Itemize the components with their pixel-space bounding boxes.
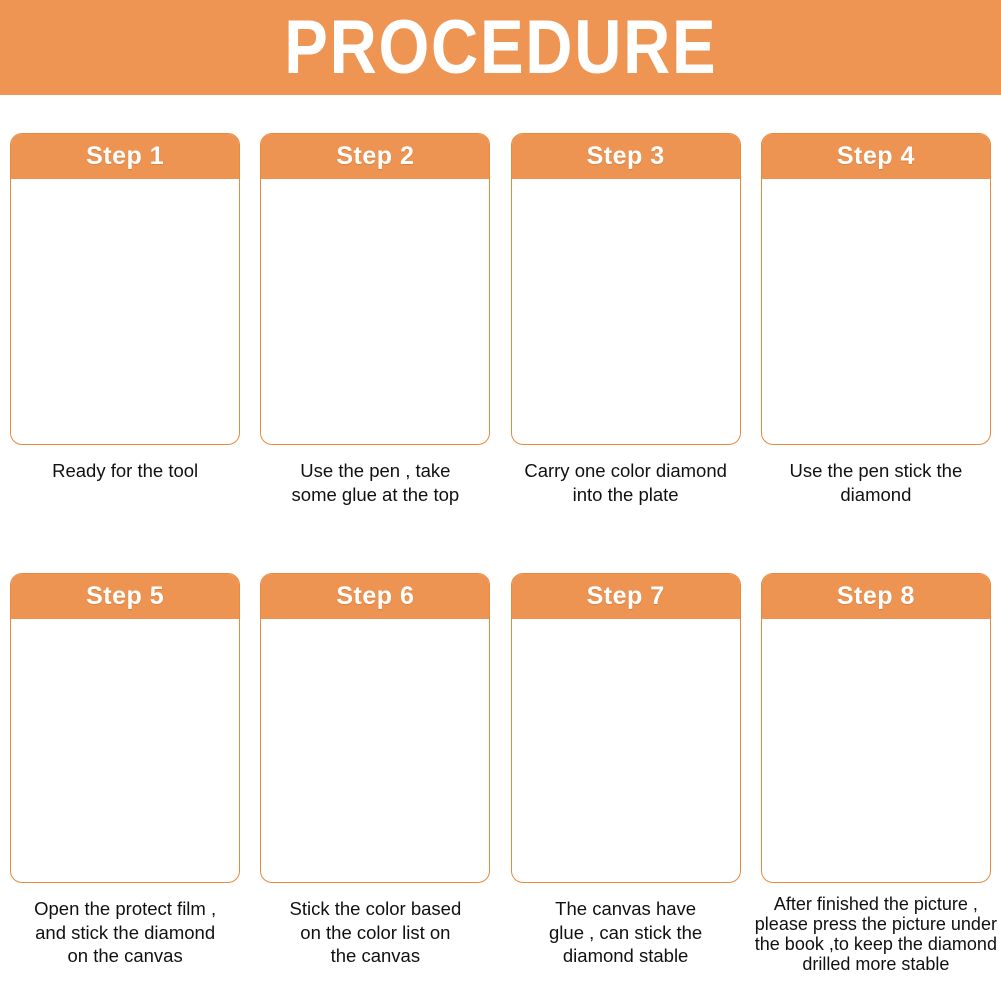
step-header-3: Step 3 [512, 134, 740, 179]
step-cell-2: Step 2 [250, 133, 500, 545]
step-cell-4: Step 4 [751, 133, 1001, 545]
step-card-5[interactable]: Step 5 [10, 573, 240, 883]
steps-grid: Step 1 [0, 95, 1001, 1001]
step-caption-4: Use the pen stick the diamond [758, 459, 993, 506]
page-banner: PROCEDURE [0, 0, 1001, 95]
step-cell-7: Step 7 The canvas h [501, 573, 751, 993]
step-card-3[interactable]: Step 3 [511, 133, 741, 445]
step-caption-8: After finished the picture , please pres… [753, 894, 999, 975]
step-cell-1: Step 1 [0, 133, 250, 545]
step-body-2 [261, 179, 489, 187]
step-header-label: Step 3 [587, 142, 665, 171]
procedure-infographic: PROCEDURE Step 1 [0, 0, 1001, 1001]
step-header-4: Step 4 [762, 134, 990, 179]
step-cell-5: Step 5 Open the pro [0, 573, 250, 993]
step-cell-6: Step 6 Ser [250, 573, 500, 993]
step-cell-8: Step 8 [751, 573, 1001, 993]
step-caption-1: Ready for the tool [8, 459, 243, 483]
step-header-label: Step 5 [86, 582, 164, 611]
step-caption-7: The canvas have glue , can stick the dia… [508, 897, 743, 968]
step-header-label: Step 2 [336, 142, 414, 171]
step-card-2[interactable]: Step 2 [260, 133, 490, 445]
step-header-label: Step 8 [837, 582, 915, 611]
step-caption-2: Use the pen , take some glue at the top [258, 459, 493, 506]
step-header-7: Step 7 [512, 574, 740, 619]
steps-row-bottom: Step 5 Open the pro [0, 573, 1001, 993]
step-card-4[interactable]: Step 4 [761, 133, 991, 445]
step-caption-5: Open the protect film , and stick the di… [8, 897, 243, 968]
step-card-8[interactable]: Step 8 [761, 573, 991, 883]
step-card-6[interactable]: Step 6 Ser [260, 573, 490, 883]
step-header-1: Step 1 [11, 134, 239, 179]
step-header-5: Step 5 [11, 574, 239, 619]
step-header-label: Step 7 [587, 582, 665, 611]
step-header-2: Step 2 [261, 134, 489, 179]
page-title: PROCEDURE [284, 10, 717, 86]
step-card-7[interactable]: Step 7 [511, 573, 741, 883]
step-cell-3: Step 3 [501, 133, 751, 545]
step-header-label: Step 4 [837, 142, 915, 171]
step-header-label: Step 1 [86, 142, 164, 171]
steps-row-top: Step 1 [0, 133, 1001, 545]
step-header-8: Step 8 [762, 574, 990, 619]
step-card-1[interactable]: Step 1 [10, 133, 240, 445]
step-body-1 [11, 179, 239, 187]
step-body-4 [762, 179, 990, 187]
step-body-3 [512, 179, 740, 187]
step-caption-6: Stick the color based on the color list … [258, 897, 493, 968]
step-header-label: Step 6 [336, 582, 414, 611]
step-header-6: Step 6 [261, 574, 489, 619]
step-caption-3: Carry one color diamond into the plate [508, 459, 743, 506]
